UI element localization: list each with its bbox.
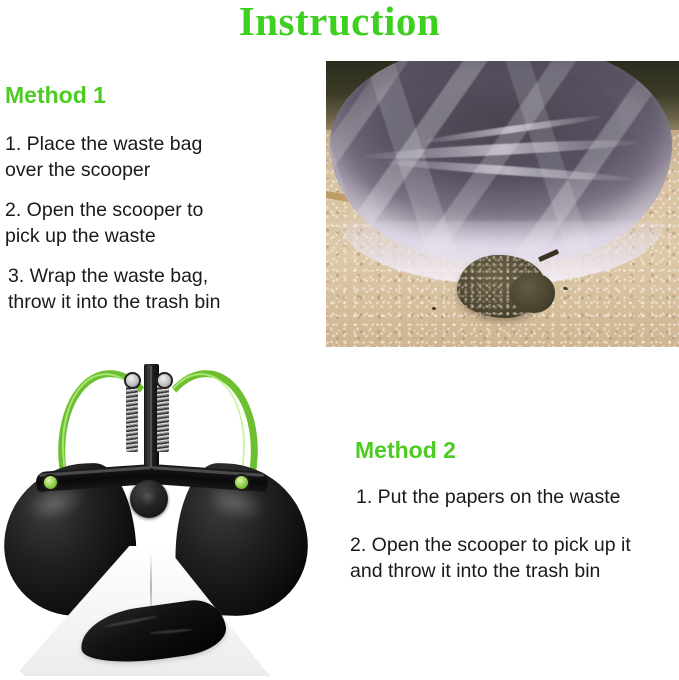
method-2-heading: Method 2 xyxy=(355,437,456,464)
scooper-center-hinge-inner xyxy=(139,489,159,509)
photo-debris-speck-2 xyxy=(432,307,436,310)
method-1-step-3: 3. Wrap the waste bag, throw it into the… xyxy=(8,263,318,315)
method-2-step-2: 2. Open the scooper to pick up it and th… xyxy=(350,532,679,584)
scooper-pivot-screw-right xyxy=(156,372,173,389)
scooper-pivot-screw-left xyxy=(124,372,141,389)
method-2-step-1: 1. Put the papers on the waste xyxy=(356,484,676,510)
method-1-step-1: 1. Place the waste bag over the scooper xyxy=(5,131,305,183)
photo-pooper-scooper xyxy=(0,358,340,680)
method-1-heading: Method 1 xyxy=(5,82,106,109)
scooper-hinge-button-right xyxy=(233,474,250,491)
scooper-hinge-button-left xyxy=(42,474,59,491)
scooper-spring-left xyxy=(126,384,138,452)
method-1-step-2: 2. Open the scooper to pick up the waste xyxy=(5,197,305,249)
photo-dog-waste-lobe xyxy=(510,273,556,313)
bag-crease-middle xyxy=(364,137,638,162)
scooper-spring-right xyxy=(157,384,169,452)
bag-crease-lower xyxy=(384,157,631,183)
page-title: Instruction xyxy=(0,0,679,44)
photo-bag-over-scooper xyxy=(326,61,679,347)
